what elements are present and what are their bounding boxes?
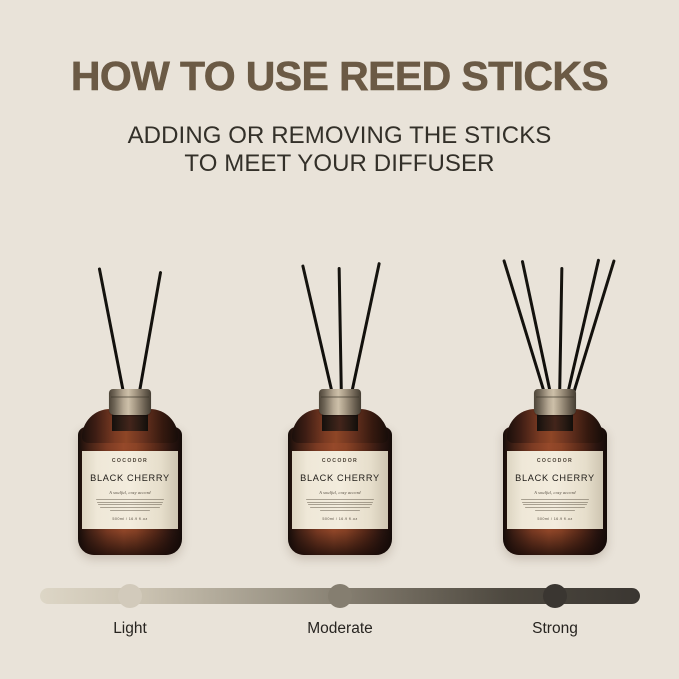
- diffuser-bottle-light: COCODOR BLACK CHERRY A soulful, cozy acc…: [45, 195, 215, 555]
- reed-stick: [301, 264, 335, 403]
- reed-sticks-group-strong: [470, 193, 640, 403]
- label-description-block: [95, 499, 165, 511]
- slider-label-strong: Strong: [532, 620, 578, 638]
- label-tagline: A soulful, cozy accord: [109, 490, 150, 495]
- reed-stick: [136, 271, 162, 403]
- label-volume: 500ml / 16.9 fl.oz: [292, 517, 388, 521]
- diffuser-bottle-row: COCODOR BLACK CHERRY A soulful, cozy acc…: [0, 195, 679, 555]
- label-tagline: A soulful, cozy accord: [319, 490, 360, 495]
- product-label: COCODOR BLACK CHERRY A soulful, cozy acc…: [292, 451, 388, 529]
- bottle-cap: [109, 389, 151, 415]
- slider-labels: Light Moderate Strong: [0, 620, 679, 644]
- subtitle-line-1: ADDING OR REMOVING THE STICKS: [0, 122, 679, 150]
- label-brand: COCODOR: [112, 458, 148, 464]
- product-label: COCODOR BLACK CHERRY A soulful, cozy acc…: [82, 451, 178, 529]
- slider-knob-moderate[interactable]: [328, 584, 352, 608]
- label-volume: 500ml / 16.9 fl.oz: [82, 517, 178, 521]
- bottle-cap: [534, 389, 576, 415]
- label-brand: COCODOR: [322, 458, 358, 464]
- diffuser-bottle-strong: COCODOR BLACK CHERRY A soulful, cozy acc…: [470, 195, 640, 555]
- label-description-block: [305, 499, 375, 511]
- product-label: COCODOR BLACK CHERRY A soulful, cozy acc…: [507, 451, 603, 529]
- bottle-cap: [319, 389, 361, 415]
- label-scent: BLACK CHERRY: [90, 473, 170, 483]
- reed-stick: [98, 267, 127, 403]
- reed-stick: [338, 267, 343, 403]
- slider-knob-light[interactable]: [118, 584, 142, 608]
- label-description-block: [520, 499, 590, 511]
- reed-sticks-group-light: [45, 193, 215, 403]
- infographic-canvas: HOW TO USE REED STICKS ADDING OR REMOVIN…: [0, 0, 679, 679]
- slider-label-light: Light: [113, 620, 147, 638]
- page-title: HOW TO USE REED STICKS: [0, 52, 679, 100]
- label-scent: BLACK CHERRY: [300, 473, 380, 483]
- reed-sticks-group-moderate: [255, 193, 425, 403]
- slider-knob-strong[interactable]: [543, 584, 567, 608]
- slider-label-moderate: Moderate: [307, 620, 372, 638]
- reed-stick: [564, 259, 600, 404]
- reed-stick: [558, 267, 563, 403]
- label-tagline: A soulful, cozy accord: [534, 490, 575, 495]
- page-subtitle: ADDING OR REMOVING THE STICKS TO MEET YO…: [0, 122, 679, 178]
- label-volume: 500ml / 16.9 fl.oz: [507, 517, 603, 521]
- diffuser-bottle-moderate: COCODOR BLACK CHERRY A soulful, cozy acc…: [255, 195, 425, 555]
- label-scent: BLACK CHERRY: [515, 473, 595, 483]
- label-brand: COCODOR: [537, 458, 573, 464]
- intensity-slider[interactable]: Light Moderate Strong: [0, 582, 679, 662]
- subtitle-line-2: TO MEET YOUR DIFFUSER: [0, 150, 679, 178]
- slider-track[interactable]: [40, 588, 640, 604]
- reed-stick: [348, 262, 380, 403]
